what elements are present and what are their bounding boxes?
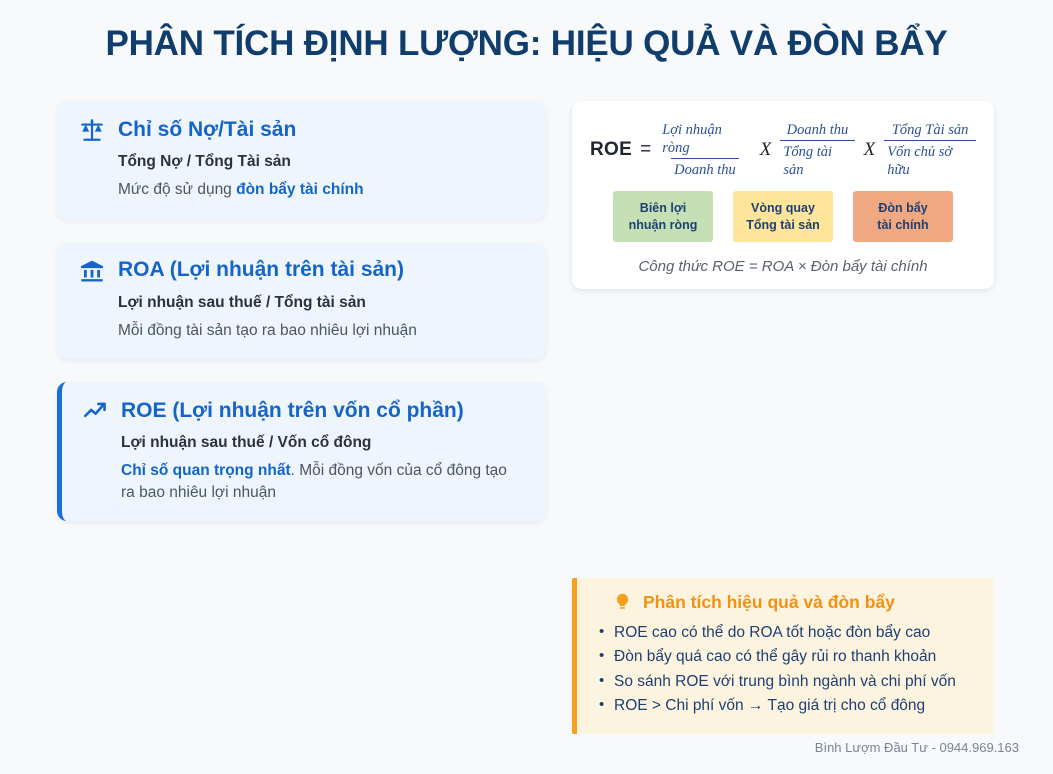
- dupont-formula-panel: ROE = Lợi nhuận ròng Doanh thu X Doanh t…: [572, 101, 994, 289]
- formula-fraction-3: Tổng Tài sản Vốn chủ sở hữu: [884, 121, 976, 179]
- callout-item: Đòn bẩy quá cao có thể gây rủi ro thanh …: [595, 645, 976, 669]
- card-description-highlight: Chỉ số quan trọng nhất: [121, 462, 291, 479]
- tag-line-2: nhuận ròng: [617, 217, 709, 234]
- fraction-denominator: Tổng tài sản: [780, 140, 854, 179]
- card-formula: Tổng Nợ / Tổng Tài sản: [118, 152, 524, 172]
- card-formula: Lợi nhuận sau thuế / Vốn cổ đông: [121, 433, 524, 453]
- callout-title: Phân tích hiệu quả và đòn bẩy: [643, 592, 895, 613]
- metric-card-roa[interactable]: ROA (Lợi nhuận trên tài sản) Lợi nhuận s…: [57, 242, 546, 360]
- trending-up-icon: [82, 398, 108, 424]
- formula-expression: ROE = Lợi nhuận ròng Doanh thu X Doanh t…: [590, 121, 976, 179]
- card-title: ROE (Lợi nhuận trên vốn cổ phần): [121, 399, 464, 423]
- tag-line-2: Tổng tài sản: [737, 217, 829, 234]
- lightbulb-icon: [613, 591, 632, 613]
- formula-fraction-1: Lợi nhuận ròng Doanh thu: [659, 121, 751, 179]
- fraction-denominator: Doanh thu: [671, 158, 739, 179]
- formula-multiply-sign-2: X: [862, 139, 878, 161]
- tag-line-1: Biên lợi: [617, 200, 709, 217]
- fraction-numerator: Lợi nhuận ròng: [659, 121, 751, 158]
- fraction-numerator: Tổng Tài sản: [889, 121, 972, 140]
- card-header: ROA (Lợi nhuận trên tài sản): [79, 258, 524, 284]
- card-formula: Lợi nhuận sau thuế / Tổng tài sản: [118, 293, 524, 313]
- card-description-prefix: Mức độ sử dụng: [118, 181, 236, 198]
- card-title: Chỉ số Nợ/Tài sản: [118, 118, 296, 142]
- formula-tag-profit-margin: Biên lợi nhuận ròng: [613, 191, 713, 242]
- card-description: Mỗi đồng tài sản tạo ra bao nhiêu lợi nh…: [118, 320, 524, 341]
- metric-card-debt-ratio[interactable]: Chỉ số Nợ/Tài sản Tổng Nợ / Tổng Tài sản…: [57, 101, 546, 219]
- callout-header: Phân tích hiệu quả và đòn bẩy: [595, 591, 976, 613]
- metric-card-list: Chỉ số Nợ/Tài sản Tổng Nợ / Tổng Tài sản…: [57, 101, 546, 544]
- tag-line-2: tài chính: [857, 217, 949, 234]
- fraction-denominator: Vốn chủ sở hữu: [884, 140, 976, 179]
- tag-line-1: Đòn bẩy: [857, 200, 949, 217]
- card-title: ROA (Lợi nhuận trên tài sản): [118, 258, 404, 282]
- metric-card-roe[interactable]: ROE (Lợi nhuận trên vốn cổ phần) Lợi nhu…: [57, 382, 546, 521]
- formula-component-tags: Biên lợi nhuận ròng Vòng quay Tổng tài s…: [590, 191, 976, 242]
- callout-bullet-list: ROE cao có thể do ROA tốt hoặc đòn bẩy c…: [595, 621, 976, 719]
- formula-equals-sign: =: [640, 139, 651, 161]
- card-description: Mức độ sử dụng đòn bẩy tài chính: [118, 179, 524, 200]
- card-description-prefix: Mỗi đồng tài sản tạo ra bao nhiêu lợi nh…: [118, 322, 417, 339]
- card-header: Chỉ số Nợ/Tài sản: [79, 117, 524, 143]
- formula-caption: Công thức ROE = ROA × Đòn bẩy tài chính: [590, 258, 976, 275]
- insight-callout: Phân tích hiệu quả và đòn bẩy ROE cao có…: [572, 578, 994, 734]
- fraction-numerator: Doanh thu: [784, 121, 852, 140]
- card-description: Chỉ số quan trọng nhất. Mỗi đồng vốn của…: [121, 460, 524, 503]
- tag-line-1: Vòng quay: [737, 200, 829, 217]
- callout-item: So sánh ROE với trung bình ngành và chi …: [595, 670, 976, 694]
- formula-multiply-sign-1: X: [758, 139, 774, 161]
- balance-scales-icon: [79, 117, 105, 143]
- callout-item: ROE cao có thể do ROA tốt hoặc đòn bẩy c…: [595, 621, 976, 645]
- formula-fraction-2: Doanh thu Tổng tài sản: [780, 121, 854, 179]
- footer-credit: Bình Lượm Đầu Tư - 0944.969.163: [815, 740, 1019, 755]
- bank-building-icon: [79, 258, 105, 284]
- formula-roe-label: ROE: [590, 139, 632, 161]
- callout-item: ROE > Chi phí vốn → Tạo giá trị cho cổ đ…: [595, 694, 976, 718]
- formula-tag-financial-leverage: Đòn bẩy tài chính: [853, 191, 953, 242]
- card-header: ROE (Lợi nhuận trên vốn cổ phần): [82, 398, 524, 424]
- page-title: PHÂN TÍCH ĐỊNH LƯỢNG: HIỆU QUẢ VÀ ĐÒN BẨ…: [0, 24, 1053, 64]
- card-description-highlight: đòn bẩy tài chính: [236, 181, 363, 198]
- formula-tag-asset-turnover: Vòng quay Tổng tài sản: [733, 191, 833, 242]
